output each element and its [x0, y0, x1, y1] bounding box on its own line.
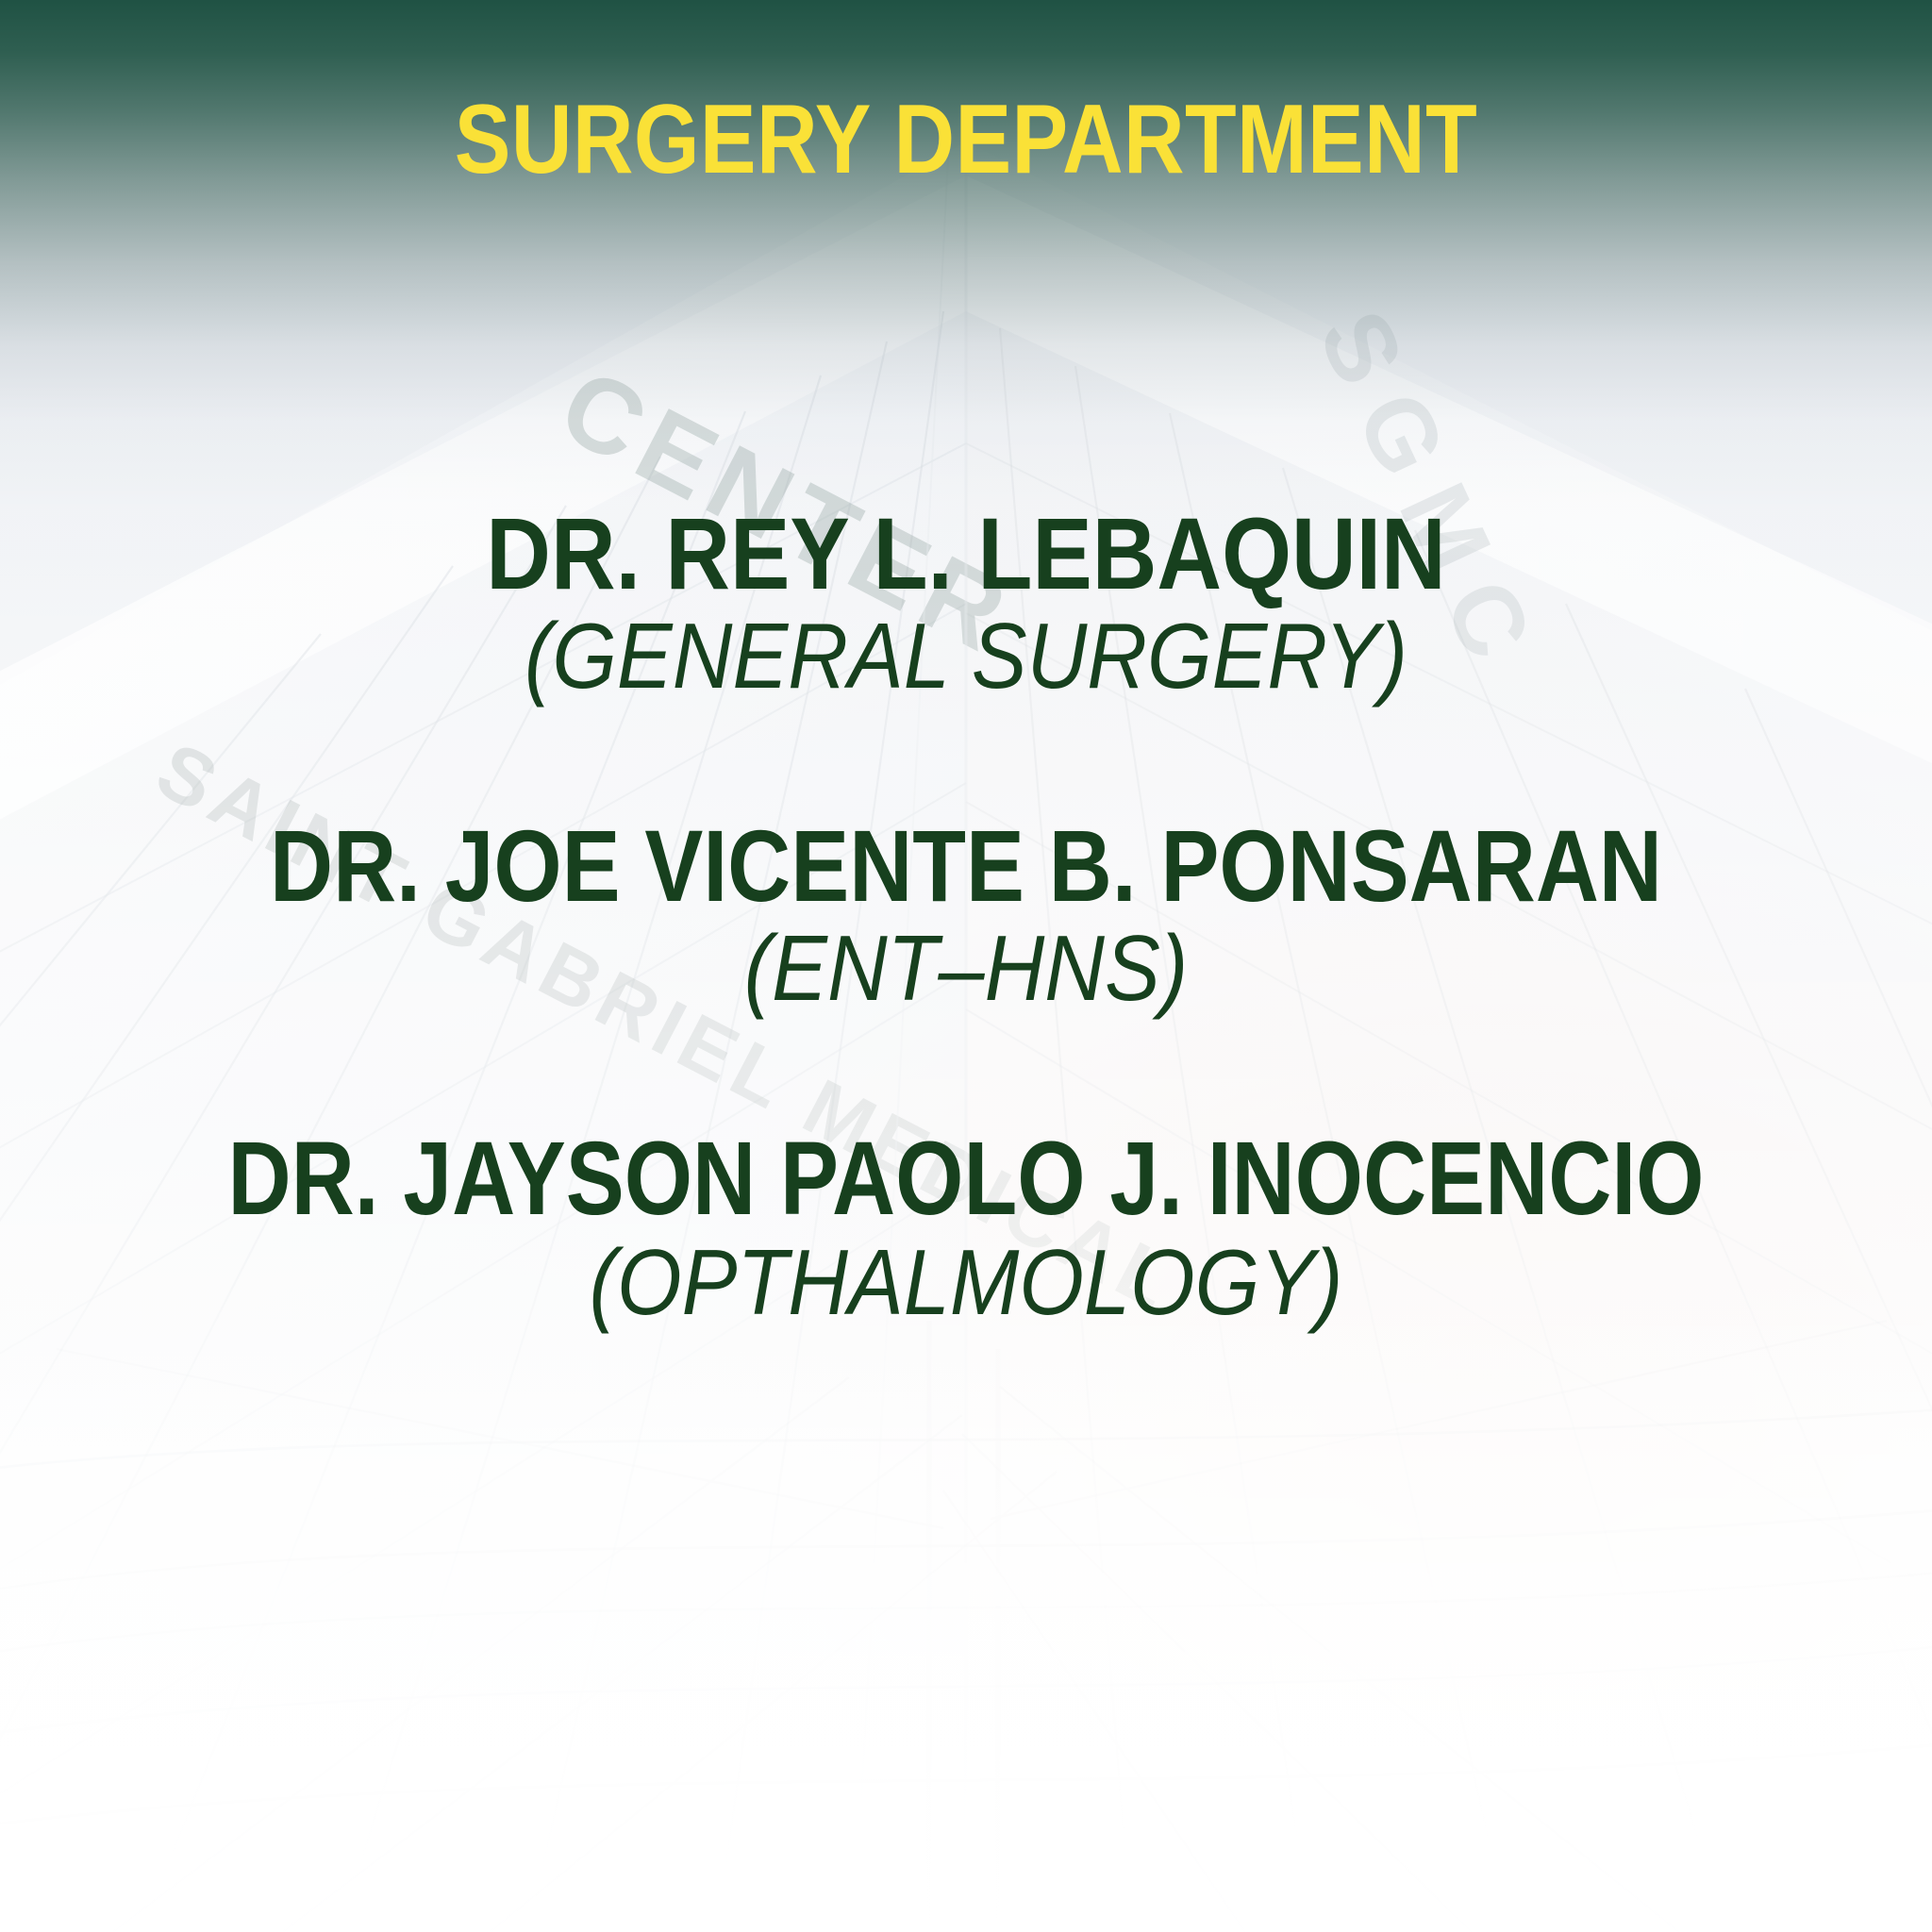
- doctor-list: DR. REY L. LEBAQUIN (GENERAL SURGERY) DR…: [0, 502, 1932, 1331]
- surgery-department-poster: SAINT GABRIEL MEDICAL CENTER SGMC: [0, 0, 1932, 1932]
- doctor-name: DR. JAYSON PAOLO J. INOCENCIO: [150, 1126, 1783, 1232]
- poster-content: SURGERY DEPARTMENT DR. REY L. LEBAQUIN (…: [0, 0, 1932, 1932]
- department-title: SURGERY DEPARTMENT: [135, 91, 1796, 189]
- doctor-specialty: (GENERAL SURGERY): [96, 608, 1835, 705]
- doctor-specialty: (OPTHALMOLOGY): [96, 1234, 1835, 1331]
- doctor-entry: DR. JOE VICENTE B. PONSARAN (ENT–HNS): [0, 814, 1932, 1017]
- doctor-specialty: (ENT–HNS): [96, 920, 1835, 1017]
- doctor-entry: DR. JAYSON PAOLO J. INOCENCIO (OPTHALMOL…: [0, 1126, 1932, 1331]
- doctor-name: DR. REY L. LEBAQUIN: [116, 502, 1816, 606]
- doctor-name: DR. JOE VICENTE B. PONSARAN: [135, 814, 1796, 918]
- doctor-entry: DR. REY L. LEBAQUIN (GENERAL SURGERY): [0, 502, 1932, 705]
